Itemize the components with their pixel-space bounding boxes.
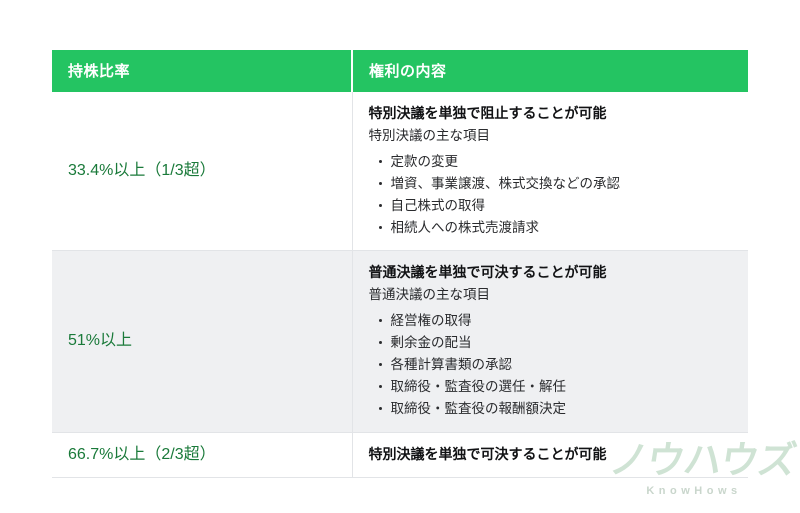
cell-ratio: 66.7%以上（2/3超） [52,432,352,477]
rights-item-list: 経営権の取得 剰余金の配当 各種計算書類の承認 取締役・監査役の選任・解任 取締… [369,310,733,419]
list-item: 取締役・監査役の報酬額決定 [391,398,733,420]
cell-rights: 普通決議を単独で可決することが可能 普通決議の主な項目 経営権の取得 剰余金の配… [352,251,748,432]
shareholding-rights-table-wrapper: 持株比率 権利の内容 33.4%以上（1/3超） 特別決議を単独で阻止することが… [52,50,748,478]
column-header-ratio: 持株比率 [52,50,352,92]
list-item: 各種計算書類の承認 [391,354,733,376]
list-item: 相続人への株式売渡請求 [391,217,733,239]
rights-subtitle: 特別決議の主な項目 [369,126,733,147]
list-item: 取締役・監査役の選任・解任 [391,376,733,398]
list-item: 増資、事業譲渡、株式交換などの承認 [391,173,733,195]
table-row: 51%以上 普通決議を単独で可決することが可能 普通決議の主な項目 経営権の取得… [52,251,748,432]
rights-title: 特別決議を単独で阻止することが可能 [369,103,733,124]
rights-subtitle: 普通決議の主な項目 [369,285,733,306]
knowhows-logo: ノウハウズ KnowHows [610,441,778,497]
table-header-row: 持株比率 権利の内容 [52,50,748,92]
slide-canvas: 持株比率 権利の内容 33.4%以上（1/3超） 特別決議を単独で阻止することが… [0,0,800,513]
list-item: 経営権の取得 [391,310,733,332]
cell-rights: 特別決議を単独で阻止することが可能 特別決議の主な項目 定款の変更 増資、事業譲… [352,92,748,251]
shareholding-rights-table: 持株比率 権利の内容 33.4%以上（1/3超） 特別決議を単独で阻止することが… [52,50,748,478]
logo-katakana-mark: ノウハウズ [607,441,781,479]
rights-item-list: 定款の変更 増資、事業譲渡、株式交換などの承認 自己株式の取得 相続人への株式売… [369,151,733,238]
rights-title: 普通決議を単独で可決することが可能 [369,262,733,283]
list-item: 剰余金の配当 [391,332,733,354]
table-header: 持株比率 権利の内容 [52,50,748,92]
table-body: 33.4%以上（1/3超） 特別決議を単独で阻止することが可能 特別決議の主な項… [52,92,748,477]
cell-ratio: 33.4%以上（1/3超） [52,92,352,251]
logo-wordmark: KnowHows [610,485,778,497]
list-item: 自己株式の取得 [391,195,733,217]
table-row: 33.4%以上（1/3超） 特別決議を単独で阻止することが可能 特別決議の主な項… [52,92,748,251]
cell-ratio: 51%以上 [52,251,352,432]
column-header-rights: 権利の内容 [352,50,748,92]
list-item: 定款の変更 [391,151,733,173]
